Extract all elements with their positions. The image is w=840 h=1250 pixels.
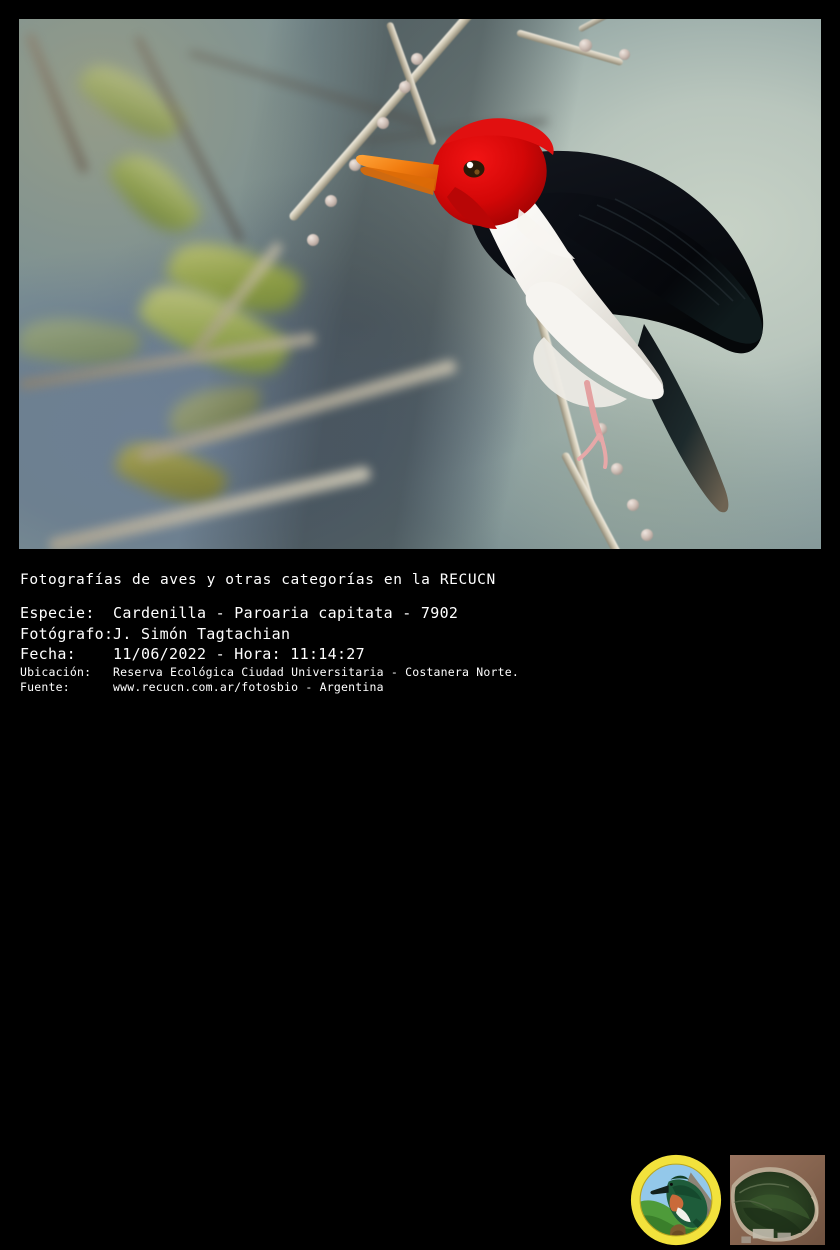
metadata-label: Fuente: — [20, 680, 113, 696]
bird-eye-iris — [474, 169, 479, 174]
logo-strip — [628, 1152, 828, 1250]
aerial-building — [753, 1229, 774, 1238]
cardenilla-bird — [19, 19, 821, 549]
metadata-label: Ubicación: — [20, 665, 113, 681]
metadata-row-fotografo: Fotógrafo: J. Simón Tagtachian — [20, 624, 519, 645]
recucn-emblem-logo[interactable] — [630, 1154, 722, 1246]
reserve-aerial-photo[interactable] — [730, 1155, 825, 1245]
aerial-building — [778, 1233, 791, 1241]
bird-tail — [634, 324, 728, 512]
metadata-label: Fecha: — [20, 644, 113, 665]
emblem-bird-eye — [670, 1183, 673, 1186]
metadata-value: Reserva Ecológica Ciudad Universitaria -… — [113, 665, 519, 681]
metadata-value[interactable]: www.recucn.com.ar/fotosbio - Argentina — [113, 680, 384, 696]
metadata-row-fuente: Fuente: www.recucn.com.ar/fotosbio - Arg… — [20, 680, 519, 696]
emblem-scene — [630, 1154, 722, 1246]
metadata-value: 11/06/2022 - Hora: 11:14:27 — [113, 644, 365, 665]
caption-title: Fotografías de aves y otras categorías e… — [20, 572, 496, 588]
bird-eye-highlight — [467, 162, 473, 168]
metadata-row-ubicacion: Ubicación: Reserva Ecológica Ciudad Univ… — [20, 665, 519, 681]
caption-panel: Fotografías de aves y otras categorías e… — [0, 552, 840, 708]
metadata-value: Cardenilla - Paroaria capitata - 7902 — [113, 603, 458, 624]
bird-photograph — [19, 19, 821, 549]
metadata-table: Especie: Cardenilla - Paroaria capitata … — [20, 603, 519, 696]
aerial-building — [741, 1236, 751, 1243]
metadata-label: Fotógrafo: — [20, 624, 113, 645]
bird-foot — [579, 435, 606, 467]
metadata-row-especie: Especie: Cardenilla - Paroaria capitata … — [20, 603, 519, 624]
photo-canvas — [19, 19, 821, 549]
metadata-label: Especie: — [20, 603, 113, 624]
bird-eye — [464, 161, 485, 178]
metadata-row-fecha: Fecha: 11/06/2022 - Hora: 11:14:27 — [20, 644, 519, 665]
metadata-value: J. Simón Tagtachian — [113, 624, 290, 645]
